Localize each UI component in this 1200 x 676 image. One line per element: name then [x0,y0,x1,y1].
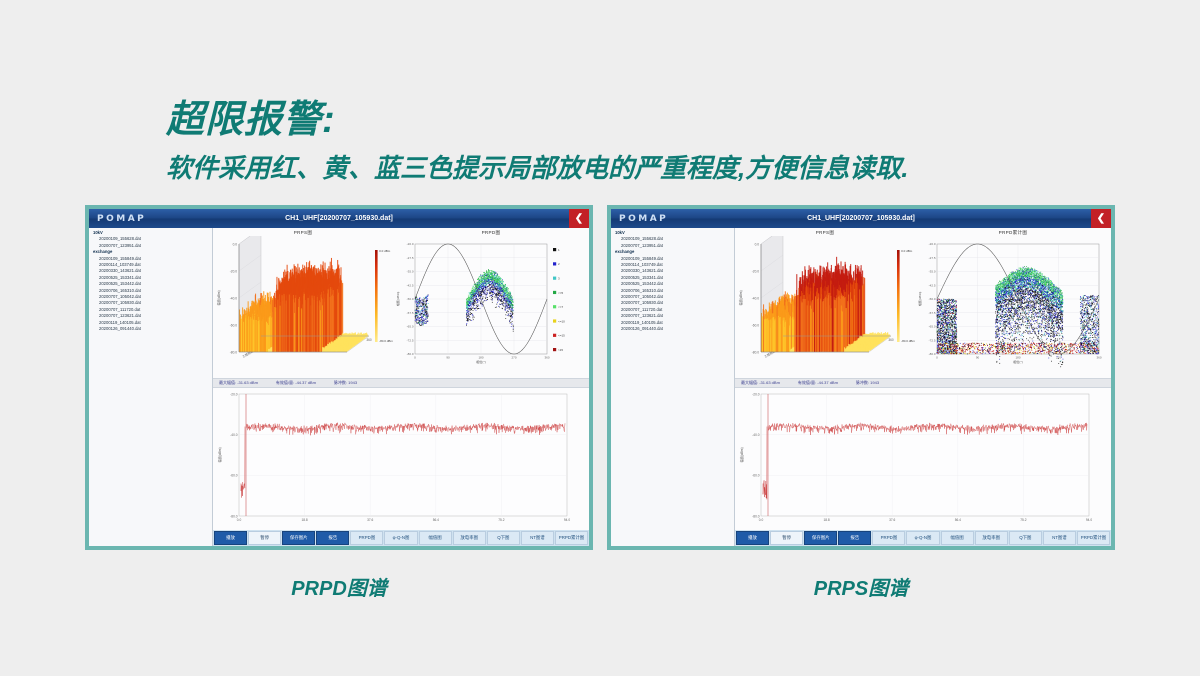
svg-text:-42.5: -42.5 [407,283,414,287]
charts-row: PRPS图 0.0-20.0-40.0-60.0-80.009018027036… [735,228,1111,378]
toolbar-button-4[interactable]: PRPD图 [350,531,383,545]
toolbar-button-0[interactable]: 播放 [736,531,769,545]
waveform-chart[interactable]: -20.0-40.0-60.0-80.00.018.837.656.475.29… [735,388,1111,530]
toolbar-button-7[interactable]: 放电率图 [975,531,1008,545]
svg-text:-57.5: -57.5 [407,311,414,315]
svg-text:幅值(dBm): 幅值(dBm) [395,292,400,307]
prpd-plot-area: -20.0-27.5-35.0-42.5-50.0-57.5-65.0-72.5… [393,236,589,374]
toolbar-button-7[interactable]: 放电率图 [453,531,486,545]
toolbar-button-0[interactable]: 播放 [214,531,247,545]
info-max-amplitude: 最大幅值: -31.63 dBm [219,380,258,386]
toolbar-button-5[interactable]: φ-Q-N图 [384,531,417,545]
svg-text:-40.0: -40.0 [230,296,237,300]
svg-text:-65.0: -65.0 [407,325,414,329]
svg-text:0.0 dBm: 0.0 dBm [379,249,391,253]
toolbar-button-2[interactable]: 保存图片 [804,531,837,545]
title-bar: POMAP CH1_UHF[20200707_105930.dat] ❮ [611,209,1111,228]
charts-row: PRPS图 0.0-20.0-40.0-60.0-80.009018027036… [213,228,589,378]
toolbar-button-4[interactable]: PRPD图 [872,531,905,545]
subheadline: 软件采用红、黄、蓝三色提示局部放电的严重程度,方便信息读取. [166,148,908,185]
measurement-info-strip: 最大幅值: -31.63 dBm 有效值/量: -44.37 dBm 脉冲数: … [735,378,1111,388]
toolbar-button-3[interactable]: 报告 [316,531,349,545]
prpd-plot-area: -20.0-27.5-35.0-42.5-50.0-57.5-65.0-72.5… [915,236,1111,374]
bottom-toolbar-1: 播放暂停保存图片报告PRPD图φ-Q-N图幅值图放电率图Q下图NT图谱PRPD累… [735,530,1111,546]
svg-text:90: 90 [446,356,450,360]
prps-3d-chart[interactable]: PRPS图 0.0-20.0-40.0-60.0-80.009018027036… [735,228,915,378]
bottom-toolbar-0: 播放暂停保存图片报告PRPD图φ-Q-N图幅值图放电率图Q下图NT图谱PRPD累… [213,530,589,546]
info-pulse-count: 脉冲数: 1943 [334,380,357,386]
prpd-cumulative-title: PRPD累计图 [915,228,1111,236]
svg-text:-60.0: -60.0 [230,323,237,327]
svg-text:-72.5: -72.5 [407,338,414,342]
toolbar-button-5[interactable]: φ-Q-N图 [906,531,939,545]
collapse-icon[interactable]: ❮ [1091,209,1111,228]
toolbar-button-6[interactable]: 幅值图 [419,531,452,545]
prpd-cumulative-chart[interactable]: PRPD累计图 -20.0-27.5-35.0-42.5-50.0-57.5-6… [915,228,1111,378]
prpd-chart-title: PRPD图 [393,228,589,236]
screenshot-panel-prpd: POMAP CH1_UHF[20200707_105930.dat] ❮ 10k… [85,205,593,550]
svg-text:0: 0 [414,356,416,360]
app-body: 10kV20200109_155628.dat20200707_123951.d… [611,228,1111,546]
info-max-amplitude: 最大幅值: -31.63 dBm [741,380,780,386]
svg-text:270: 270 [511,356,516,360]
content-column: PRPS图 0.0-20.0-40.0-60.0-80.009018027036… [213,228,589,546]
prpd-scatter-chart[interactable]: PRPD图 -20.0-27.5-35.0-42.5-50.0-57.5-65.… [393,228,589,378]
svg-text:-80.0 dBm: -80.0 dBm [379,339,393,343]
content-column: PRPS图 0.0-20.0-40.0-60.0-80.009018027036… [735,228,1111,546]
toolbar-button-9[interactable]: NT图谱 [1043,531,1076,545]
info-rms: 有效值/量: -44.37 dBm [798,380,838,386]
toolbar-button-9[interactable]: NT图谱 [521,531,554,545]
file-list-item[interactable]: 20200126_091440.dat [92,326,212,332]
toolbar-button-8[interactable]: Q下图 [1009,531,1042,545]
svg-text:幅值(dBm): 幅值(dBm) [216,290,221,305]
svg-text:-27.5: -27.5 [407,256,414,260]
file-list-item[interactable]: 20200126_091440.dat [614,326,734,332]
screenshot-panel-prps: POMAP CH1_UHF[20200707_105930.dat] ❮ 10k… [607,205,1115,550]
app-body: 10kV20200109_155628.dat20200707_123951.d… [89,228,589,546]
svg-text:相位(°): 相位(°) [476,359,486,364]
toolbar-button-1[interactable]: 暂停 [770,531,803,545]
toolbar-button-2[interactable]: 保存图片 [282,531,315,545]
svg-text:0.0: 0.0 [233,242,238,246]
svg-text:360: 360 [366,338,372,342]
toolbar-button-3[interactable]: 报告 [838,531,871,545]
collapse-icon[interactable]: ❮ [569,209,589,228]
waveform-chart[interactable]: -20.0-40.0-60.0-80.00.018.837.656.475.29… [213,388,589,530]
headline: 超限报警: [166,88,336,143]
svg-text:-80.0: -80.0 [407,352,414,356]
toolbar-button-1[interactable]: 暂停 [248,531,281,545]
file-list-panel-1[interactable]: 10kV20200109_155628.dat20200707_123951.d… [611,228,735,546]
title-bar: POMAP CH1_UHF[20200707_105930.dat] ❮ [89,209,589,228]
svg-text:-50.0: -50.0 [407,297,414,301]
svg-text:-20.0: -20.0 [230,269,237,273]
caption-prps: PRPS图谱 [607,572,1115,601]
svg-text:-35.0: -35.0 [407,270,414,274]
caption-prpd: PRPD图谱 [85,572,593,601]
svg-text:360: 360 [544,356,549,360]
window-title: CH1_UHF[20200707_105930.dat] [611,215,1111,222]
svg-text:-20.0: -20.0 [407,242,414,246]
info-rms: 有效值/量: -44.37 dBm [276,380,316,386]
toolbar-button-10[interactable]: PRPD累计图 [1077,531,1110,545]
toolbar-button-10[interactable]: PRPD累计图 [555,531,588,545]
prps-3d-chart[interactable]: PRPS图 0.0-20.0-40.0-60.0-80.009018027036… [213,228,393,378]
measurement-info-strip: 最大幅值: -31.63 dBm 有效值/量: -44.37 dBm 脉冲数: … [213,378,589,388]
prps-chart-title: PRPS图 [213,228,393,236]
window-title: CH1_UHF[20200707_105930.dat] [89,215,589,222]
svg-text:-80.0: -80.0 [230,350,237,354]
toolbar-button-8[interactable]: Q下图 [487,531,520,545]
svg-text:180: 180 [478,356,483,360]
toolbar-button-6[interactable]: 幅值图 [941,531,974,545]
prps-plot-area: 0.0-20.0-40.0-60.0-80.0090180270360相位(°)… [213,236,393,374]
prps-chart-title: PRPS图 [735,228,915,236]
prps-plot-area: 0.0-20.0-40.0-60.0-80.0090180270360相位(°)… [735,236,915,374]
file-list-panel-0[interactable]: 10kV20200109_155628.dat20200707_123951.d… [89,228,213,546]
info-pulse-count: 脉冲数: 1943 [856,380,879,386]
